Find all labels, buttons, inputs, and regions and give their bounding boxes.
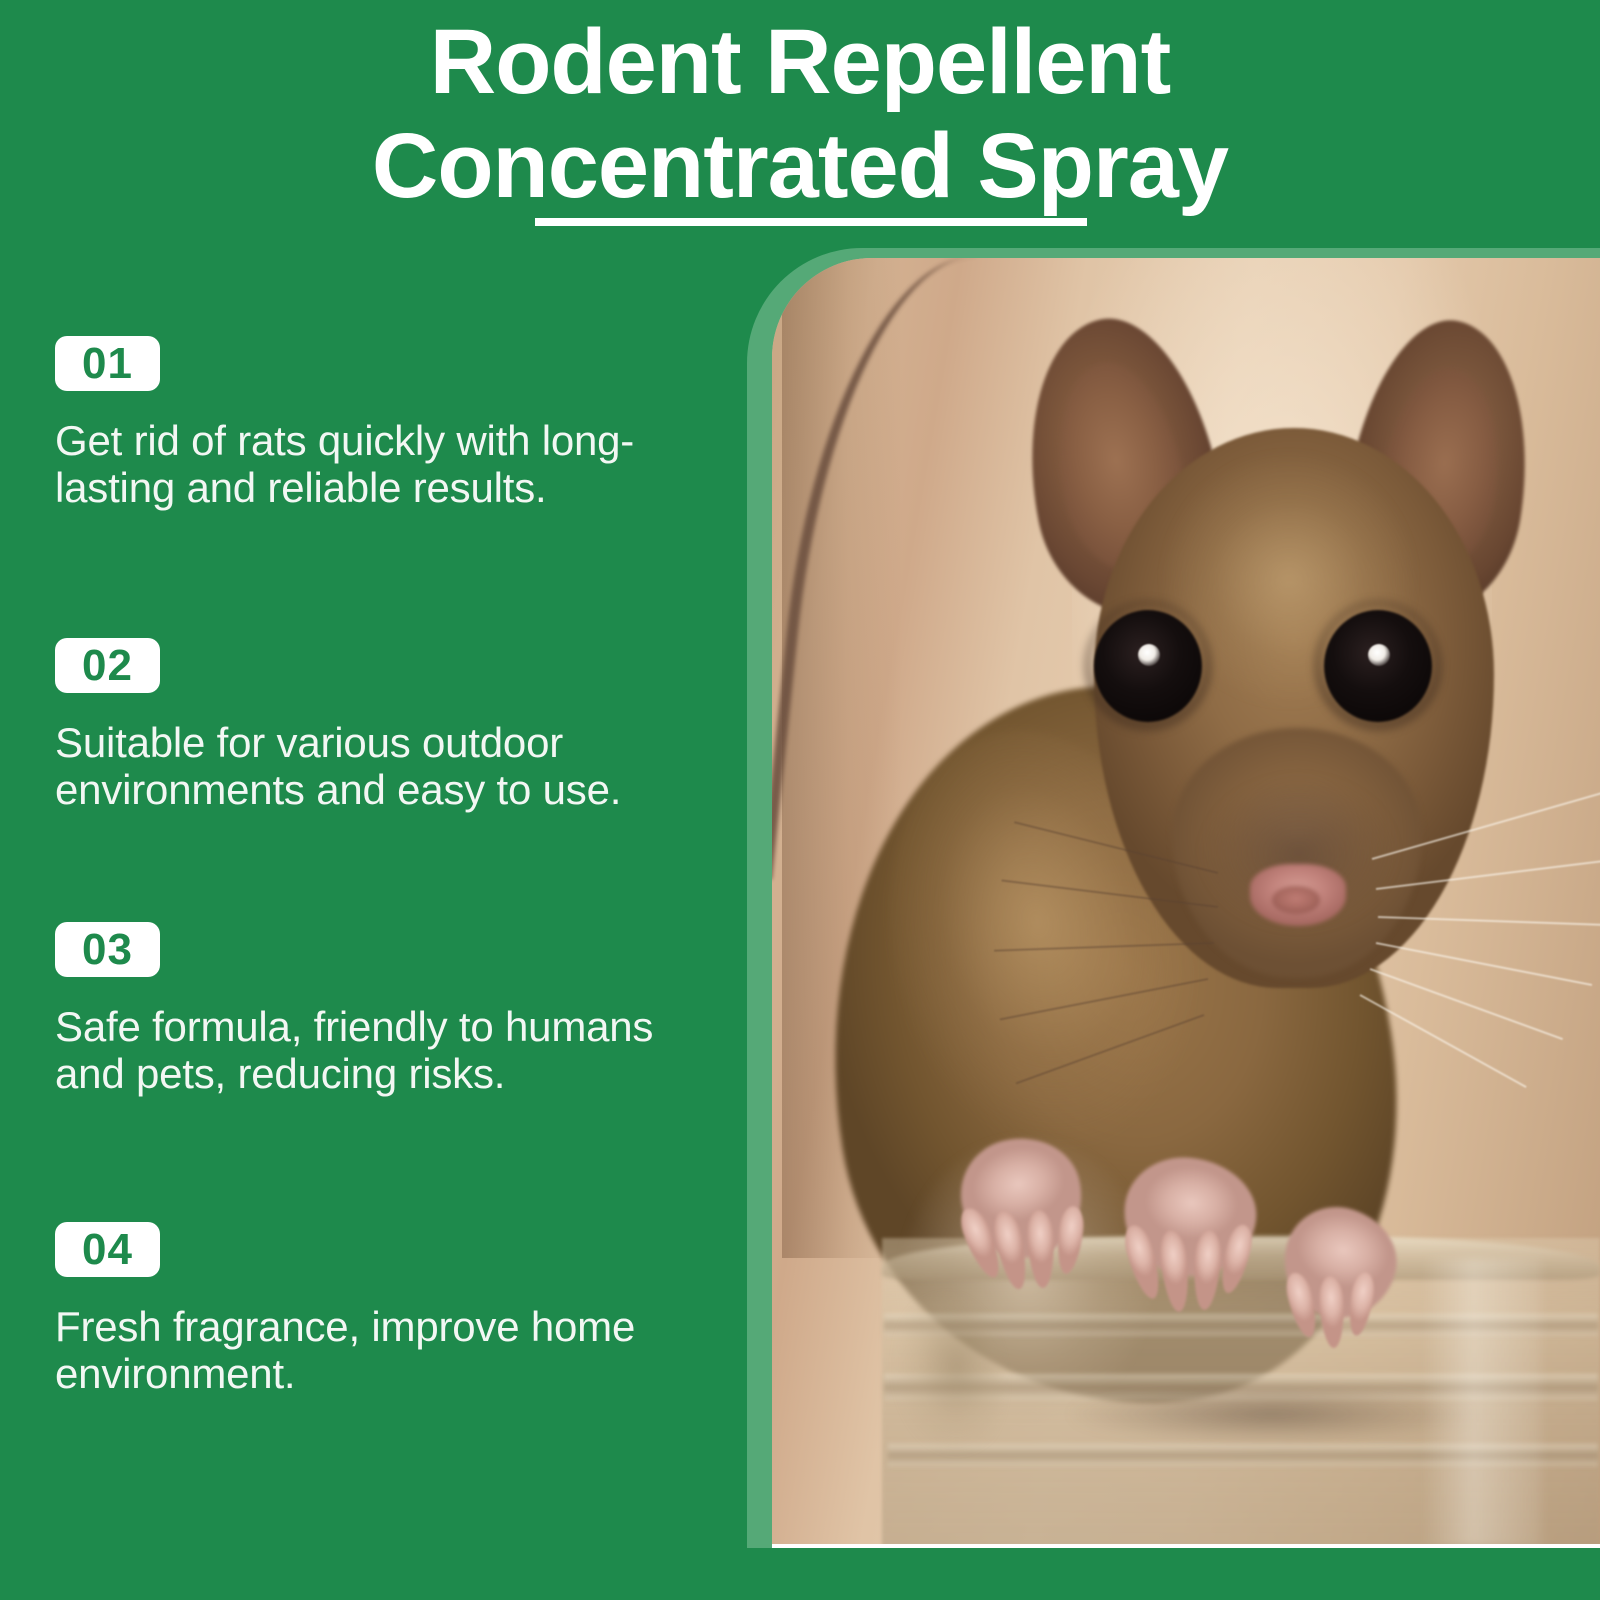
mouse-nose-tip [1272, 886, 1320, 914]
feature-number-badge: 01 [55, 336, 160, 391]
title-line-2: Concentrated Spray [0, 114, 1600, 218]
feature-number-badge: 03 [55, 922, 160, 977]
feature-number-badge: 04 [55, 1222, 160, 1277]
page-title: Rodent Repellent Concentrated Spray [0, 0, 1600, 248]
feature-description: Safe formula, friendly to humans and pet… [55, 1003, 695, 1097]
product-infographic-poster: Rodent Repellent Concentrated Spray 01 G… [0, 0, 1600, 1600]
feature-description: Fresh fragrance, improve home environmen… [55, 1303, 695, 1397]
mouse-photo-panel [772, 258, 1600, 1548]
feature-item: 03 Safe formula, friendly to humans and … [55, 922, 695, 1097]
feature-item: 04 Fresh fragrance, improve home environ… [55, 1222, 695, 1397]
mouse-right-eye-glint [1368, 644, 1390, 666]
title-line-1: Rodent Repellent [0, 0, 1600, 114]
feature-description: Suitable for various outdoor environment… [55, 719, 695, 813]
mouse-right-eye [1324, 610, 1432, 722]
photo-bottom-edge [772, 1544, 1600, 1548]
mouse-left-eye [1094, 610, 1202, 722]
glass-jar-inner-shadow [1072, 1384, 1472, 1444]
feature-description: Get rid of rats quickly with long-lastin… [55, 417, 695, 511]
glass-jar-highlight [1422, 1258, 1542, 1548]
mouse-left-eye-glint [1138, 644, 1160, 666]
feature-item: 01 Get rid of rats quickly with long-las… [55, 336, 695, 511]
feature-item: 02 Suitable for various outdoor environm… [55, 638, 695, 813]
feature-number-badge: 02 [55, 638, 160, 693]
